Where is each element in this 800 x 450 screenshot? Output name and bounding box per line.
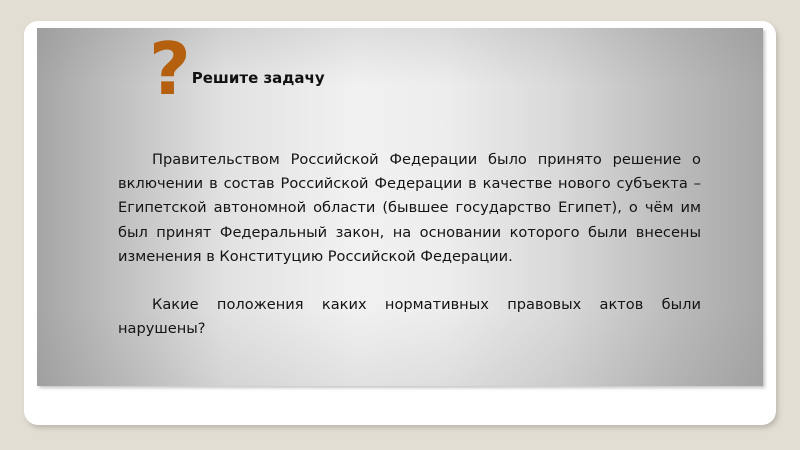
slide-content-panel: ? Решите задачу Правительством Российско… — [37, 28, 763, 386]
body-paragraph-question: Какие положения каких нормативных правов… — [118, 293, 701, 341]
body-paragraph-scenario: Правительством Российской Федерации было… — [118, 148, 701, 269]
slide-header: ? Решите задачу — [149, 33, 325, 105]
page-title: Решите задачу — [192, 71, 325, 86]
question-mark-icon: ? — [149, 33, 189, 105]
slide-frame: ? Решите задачу Правительством Российско… — [24, 21, 776, 425]
slide-stage: ? Решите задачу Правительством Российско… — [0, 0, 800, 450]
slide-body-text: Правительством Российской Федерации было… — [118, 148, 701, 341]
